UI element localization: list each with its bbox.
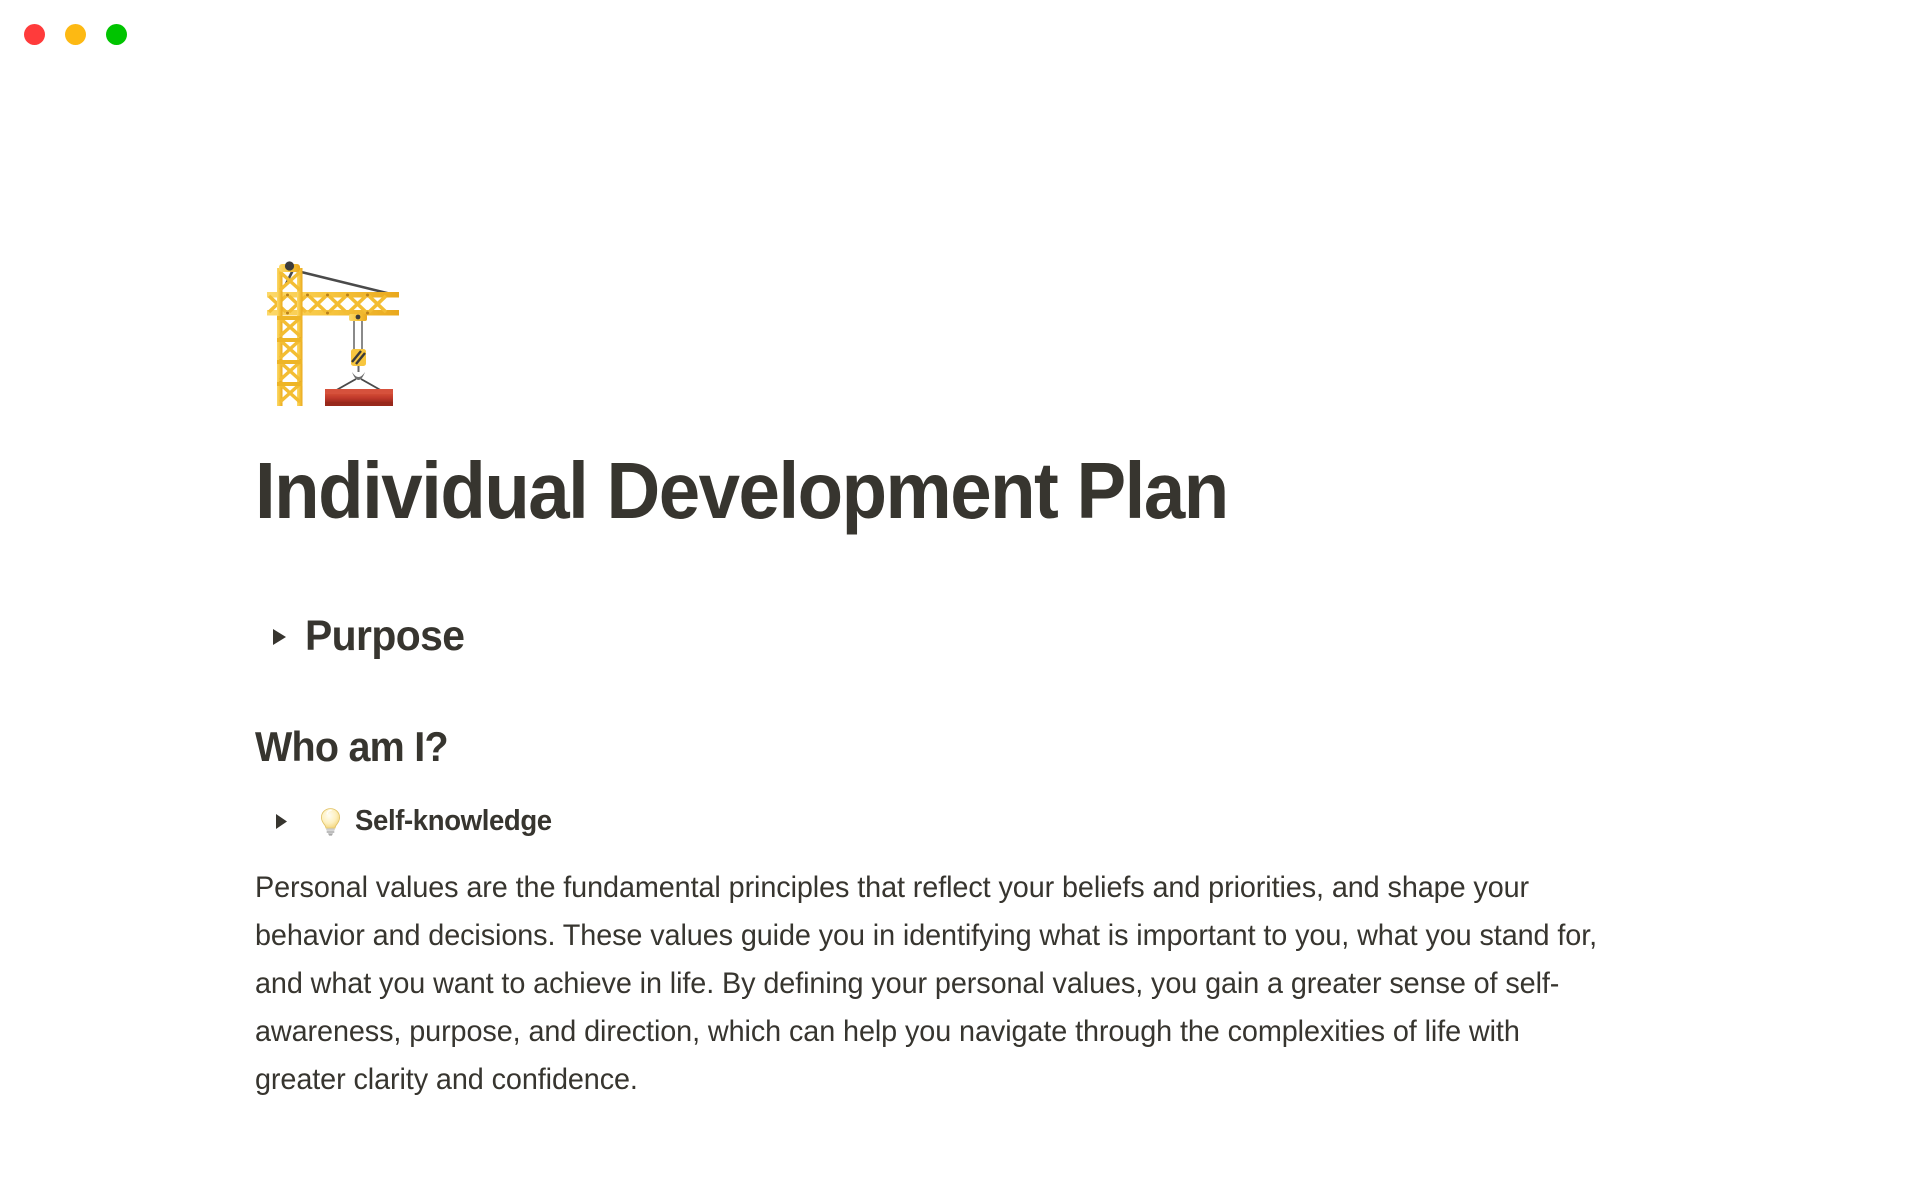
toggle-block-purpose[interactable]: Purpose xyxy=(269,612,1800,661)
paragraph-personal-values[interactable]: Personal values are the fundamental prin… xyxy=(255,864,1618,1104)
toggle-block-self-knowledge[interactable]: Self-knowledge xyxy=(273,805,1800,838)
building-construction-crane-icon[interactable] xyxy=(249,250,409,410)
page-title[interactable]: Individual Development Plan xyxy=(255,448,1692,534)
toggle-label-self-knowledge: Self-knowledge xyxy=(355,805,552,838)
document-content: Individual Development Plan Purpose Who … xyxy=(0,0,1920,1134)
light-bulb-icon xyxy=(317,807,344,837)
heading-who-am-i[interactable]: Who am I? xyxy=(255,723,1707,771)
chevron-right-icon[interactable] xyxy=(269,626,295,648)
toggle-label-purpose: Purpose xyxy=(305,612,464,661)
app-window: Individual Development Plan Purpose Who … xyxy=(0,0,1920,1200)
chevron-right-icon[interactable] xyxy=(273,812,299,831)
